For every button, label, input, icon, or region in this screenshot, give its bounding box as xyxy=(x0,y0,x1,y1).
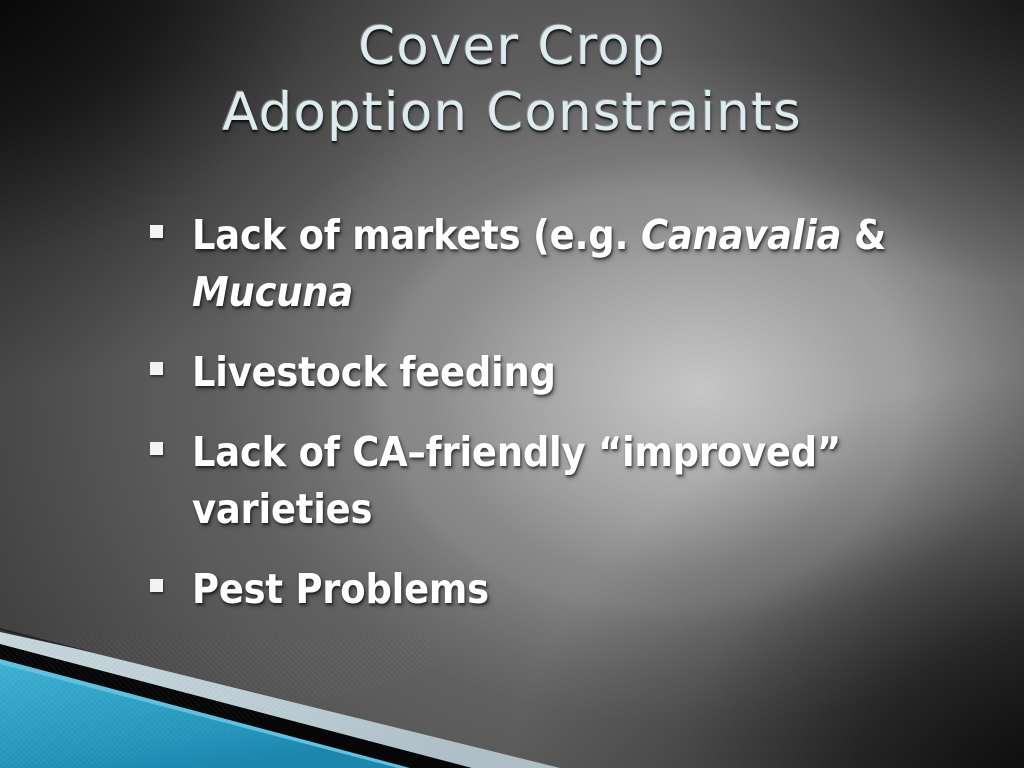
slide-body-content: Lack of markets (e.g. Canavalia & Mucuna… xyxy=(150,207,925,641)
slide-title-line-1: Cover Crop xyxy=(0,20,1024,73)
bullet-item-lack-of-markets: Lack of markets (e.g. Canavalia & Mucuna xyxy=(150,207,925,321)
square-bullet-icon xyxy=(150,579,163,592)
bullet-item-lack-of-improved-varieties: Lack of CA–friendly “improved” varieties xyxy=(150,424,925,538)
square-bullet-icon xyxy=(150,442,163,455)
bullet-item-livestock-feeding: Livestock feeding xyxy=(150,344,925,401)
bullet-text: Livestock feeding xyxy=(192,344,925,401)
bullet-item-pest-problems: Pest Problems xyxy=(150,561,925,618)
bullet-text: Lack of CA–friendly “improved” varieties xyxy=(192,424,925,538)
bullet-text: Pest Problems xyxy=(192,561,925,618)
bullet-text: Lack of markets (e.g. Canavalia & Mucuna xyxy=(192,207,925,321)
presentation-slide: Cover Crop Adoption Constraints Lack of … xyxy=(0,0,1024,768)
square-bullet-icon xyxy=(150,362,163,375)
slide-title: Cover Crop Adoption Constraints xyxy=(0,20,1024,139)
square-bullet-icon xyxy=(150,225,163,238)
slide-title-line-2: Adoption Constraints xyxy=(0,86,1024,139)
